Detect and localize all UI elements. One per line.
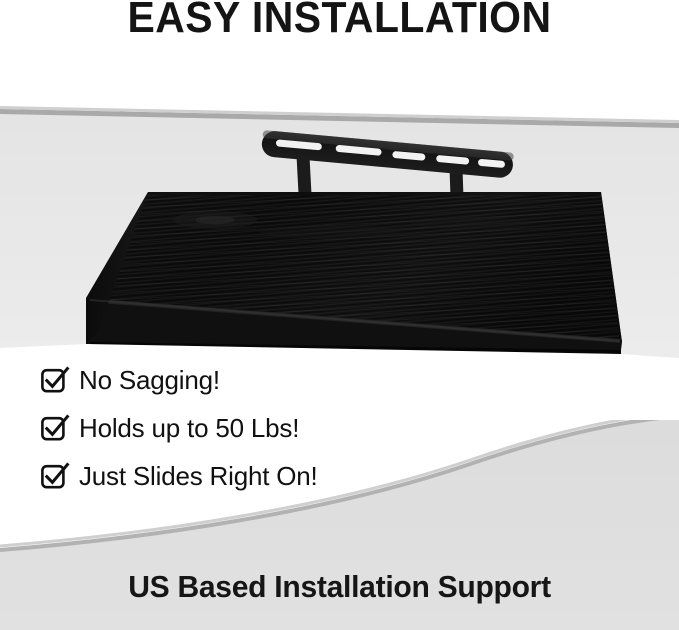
list-item-label: No Sagging! xyxy=(79,366,220,394)
floating-shelf xyxy=(60,187,660,357)
list-item: No Sagging! xyxy=(42,356,472,404)
checked-checkbox-icon xyxy=(42,367,68,393)
product-photo-svg xyxy=(0,92,679,392)
product-infographic: EASY INSTALLATION xyxy=(0,0,679,630)
footer-support-text: US Based Installation Support xyxy=(10,570,669,604)
product-photo xyxy=(0,92,679,392)
page-title: EASY INSTALLATION xyxy=(24,0,655,42)
